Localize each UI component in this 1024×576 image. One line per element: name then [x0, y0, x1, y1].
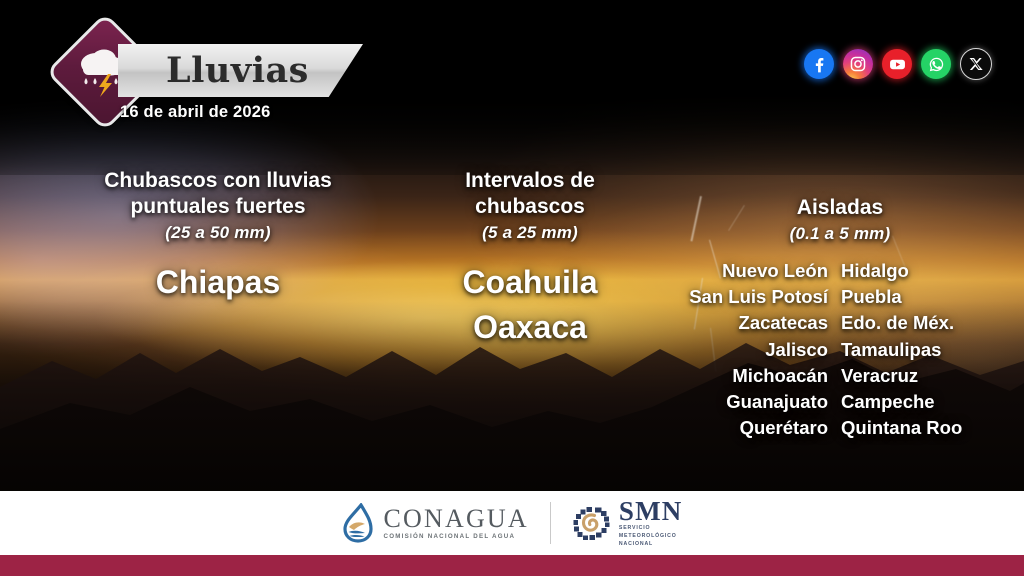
footer-accent-bar — [0, 555, 1024, 576]
whatsapp-icon[interactable] — [921, 49, 951, 79]
column-3-states: Nuevo León San Luis Potosí Zacatecas Jal… — [668, 258, 1008, 441]
column-1-title-line1: Chubascos con lluvias — [104, 169, 332, 192]
state-name: Zacatecas — [668, 310, 828, 336]
column-3-states-left: Nuevo León San Luis Potosí Zacatecas Jal… — [668, 258, 828, 441]
smn-spiral-greca-logo-icon — [572, 503, 612, 543]
conagua-logo: CONAGUA COMISIÓN NACIONAL DEL AGUA — [341, 503, 528, 543]
social-links — [804, 48, 992, 80]
state-name: Oaxaca — [400, 305, 660, 350]
column-1-states: Chiapas — [48, 260, 388, 305]
column-2-header: Intervalos de chubascos (5 a 25 mm) — [400, 168, 660, 243]
column-3-range: (0.1 a 5 mm) — [690, 224, 990, 244]
infographic-canvas: Lluvias 16 de abril de 2026 — [0, 0, 1024, 576]
column-1-title: Chubascos con lluvias puntuales fuertes — [48, 168, 388, 220]
state-name: Querétaro — [668, 415, 828, 441]
state-name: Quintana Roo — [841, 415, 1006, 441]
footer-logos: CONAGUA COMISIÓN NACIONAL DEL AGUA — [0, 491, 1024, 555]
state-name: Hidalgo — [841, 258, 1006, 284]
column-2-states: Coahuila Oaxaca — [400, 260, 660, 350]
state-name: Puebla — [841, 284, 1006, 310]
column-2-range: (5 a 25 mm) — [400, 223, 660, 243]
column-3-states-right: Hidalgo Puebla Edo. de Méx. Tamaulipas V… — [841, 258, 1006, 441]
state-name: Tamaulipas — [841, 337, 1006, 363]
smn-subtitle-line1: SERVICIO — [619, 525, 683, 532]
column-3-header: Aisladas (0.1 a 5 mm) — [690, 195, 990, 244]
column-2-title: Intervalos de chubascos — [400, 168, 660, 220]
youtube-icon[interactable] — [882, 49, 912, 79]
column-1-header: Chubascos con lluvias puntuales fuertes … — [48, 168, 388, 243]
forecast-date: 16 de abril de 2026 — [120, 103, 271, 122]
state-name: Campeche — [841, 389, 1006, 415]
smn-name: SMN — [619, 498, 683, 524]
conagua-wordmark: CONAGUA COMISIÓN NACIONAL DEL AGUA — [383, 506, 528, 540]
state-name: Nuevo León — [668, 258, 828, 284]
column-1-title-line2: puntuales fuertes — [130, 195, 305, 218]
state-name: Jalisco — [668, 337, 828, 363]
state-name: Michoacán — [668, 363, 828, 389]
conagua-name: CONAGUA — [383, 506, 528, 532]
column-2-title-line1: Intervalos de — [465, 169, 595, 192]
facebook-icon[interactable] — [804, 49, 834, 79]
state-name: Edo. de Méx. — [841, 310, 1006, 336]
page-title: Lluvias — [166, 44, 366, 97]
smn-subtitle-line2: METEOROLÓGICO — [619, 533, 683, 540]
column-3-title: Aisladas — [690, 195, 990, 221]
state-name: Veracruz — [841, 363, 1006, 389]
smn-logo: SMN SERVICIO METEOROLÓGICO NACIONAL — [572, 498, 683, 548]
conagua-water-eagle-logo-icon — [341, 503, 375, 543]
state-name: Chiapas — [48, 260, 388, 305]
column-2-title-line2: chubascos — [475, 195, 585, 218]
instagram-icon[interactable] — [843, 49, 873, 79]
column-1-range: (25 a 50 mm) — [48, 223, 388, 243]
smn-subtitle-line3: NACIONAL — [619, 541, 683, 548]
conagua-subtitle: COMISIÓN NACIONAL DEL AGUA — [383, 533, 528, 540]
x-twitter-icon[interactable] — [960, 48, 992, 80]
state-name: Guanajuato — [668, 389, 828, 415]
footer-divider — [550, 502, 551, 544]
smn-wordmark: SMN SERVICIO METEOROLÓGICO NACIONAL — [619, 498, 683, 548]
state-name: Coahuila — [400, 260, 660, 305]
state-name: San Luis Potosí — [668, 284, 828, 310]
